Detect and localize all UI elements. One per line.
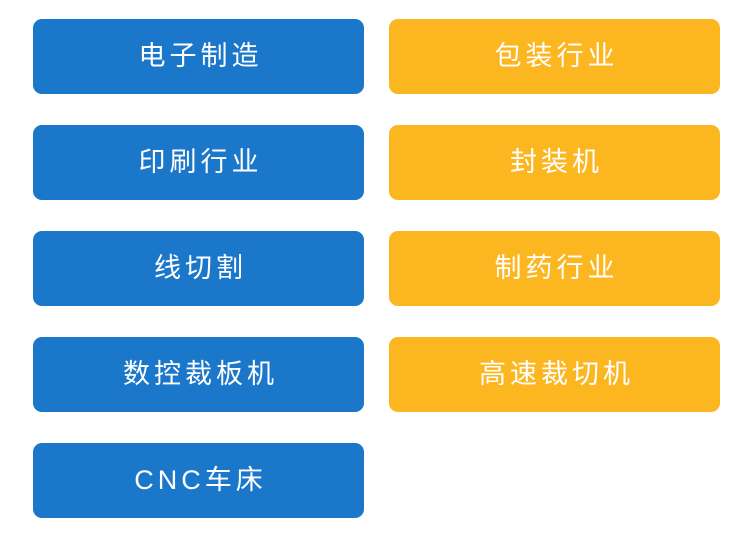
- tag-button-cnc-lathe[interactable]: CNC车床: [33, 443, 364, 518]
- tag-button-electronics-manufacturing[interactable]: 电子制造: [33, 19, 364, 94]
- tag-button-board: 电子制造 印刷行业 线切割 数控裁板机 CNC车床 包装行业 封装机 制药行业 …: [0, 0, 750, 537]
- tag-button-pharmaceutical-industry[interactable]: 制药行业: [389, 231, 720, 306]
- right-column: 包装行业 封装机 制药行业 高速裁切机: [389, 0, 720, 537]
- tag-button-packaging-industry[interactable]: 包装行业: [389, 19, 720, 94]
- tag-button-printing-industry[interactable]: 印刷行业: [33, 125, 364, 200]
- tag-button-wire-cutting[interactable]: 线切割: [33, 231, 364, 306]
- tag-button-cnc-panel-saw[interactable]: 数控裁板机: [33, 337, 364, 412]
- left-column: 电子制造 印刷行业 线切割 数控裁板机 CNC车床: [33, 0, 364, 537]
- tag-button-high-speed-cutter[interactable]: 高速裁切机: [389, 337, 720, 412]
- tag-button-sealing-machine[interactable]: 封装机: [389, 125, 720, 200]
